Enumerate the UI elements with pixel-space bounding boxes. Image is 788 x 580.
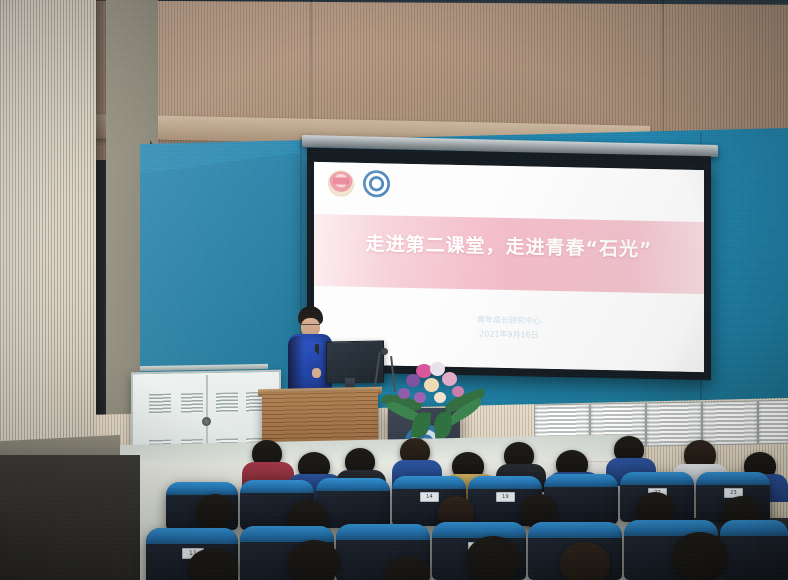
flower-petal <box>398 388 410 399</box>
dark-floor-area <box>0 455 140 580</box>
seat-trim <box>528 522 622 538</box>
seat-trim <box>166 482 238 495</box>
seat-trim <box>720 520 788 536</box>
auditorium-seat[interactable] <box>720 520 788 580</box>
cabinet-louver <box>181 393 203 413</box>
blue-school-emblem-icon <box>363 170 390 198</box>
audience-head <box>288 540 340 580</box>
seat-trim <box>316 478 390 491</box>
seat-number: 19 <box>496 492 515 502</box>
seat-trim <box>240 480 314 493</box>
seat-trim <box>146 528 238 544</box>
seat-trim <box>432 522 526 538</box>
cabinet-louver <box>216 392 238 412</box>
seat-trim <box>336 524 430 540</box>
wall-vent-grille <box>646 402 702 447</box>
audience-head <box>672 532 728 580</box>
flower-arrangement <box>382 362 486 430</box>
flower-petal <box>406 374 420 387</box>
glasses-icon <box>301 324 320 330</box>
cabinet-louver <box>149 394 171 414</box>
flower-petal <box>434 392 446 403</box>
microphone-head-icon <box>381 348 388 355</box>
audience-head <box>196 494 234 528</box>
red-circular-logo-icon <box>328 170 354 197</box>
flower-petal <box>414 392 426 403</box>
slide-logo-row <box>328 169 390 197</box>
flower-petal <box>424 378 439 392</box>
wall-vent-grille <box>702 401 758 446</box>
audience-head <box>188 548 238 580</box>
seat-trim <box>468 476 542 489</box>
flower-petal <box>442 372 457 386</box>
seat-trim <box>392 476 466 489</box>
cabinet-lock-icon[interactable] <box>202 417 211 426</box>
seat-trim <box>696 472 770 485</box>
audience-head <box>560 542 610 580</box>
presenter-hand <box>312 368 321 378</box>
audience-head <box>386 556 430 580</box>
auditorium-photo: 走进第二课堂，走进青春“石光” 青年成长研究中心 2021年9月16日 <box>0 0 788 580</box>
flower-petal <box>452 386 464 397</box>
seat-trim <box>620 472 694 485</box>
seat-trim <box>544 474 618 487</box>
audience-head <box>466 536 520 580</box>
presenter-shadow <box>288 336 304 396</box>
left-ribbed-column <box>0 0 96 470</box>
wall-vent-grille <box>758 400 788 445</box>
seat-number: 14 <box>420 492 439 502</box>
